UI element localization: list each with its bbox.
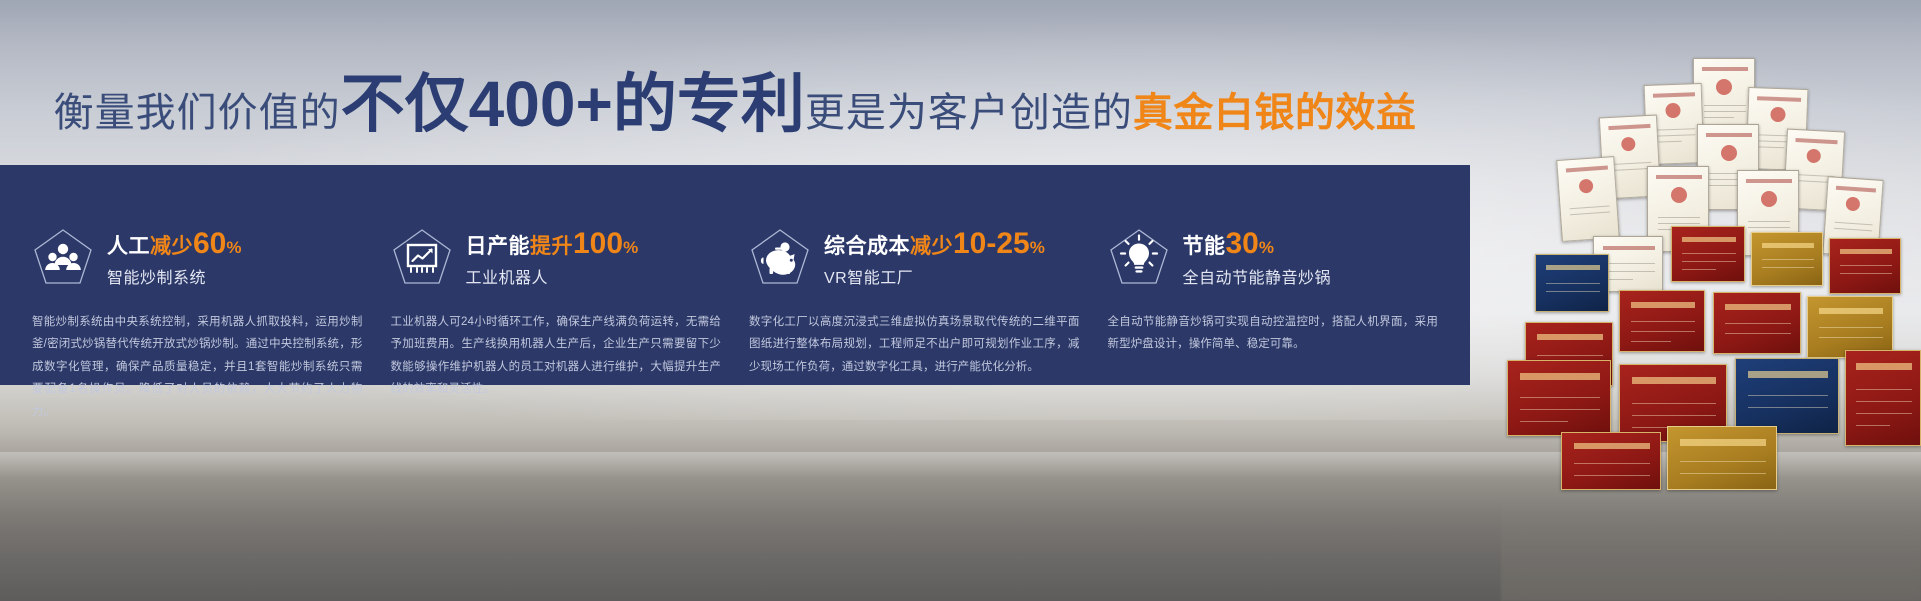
certificate-item [1697,124,1759,210]
award-plaque-item [1807,296,1893,358]
award-plaque-item [1751,232,1823,286]
award-plaque-item [1735,358,1839,434]
feature-description: 工业机器人可24小时循环工作，确保生产线满负荷运转，无需给予加班费用。生产线换用… [391,311,722,401]
feature-title-value: 60 [193,227,226,260]
headline-lead: 衡量我们价值的 [54,91,341,135]
feature-subtitle: 全自动节能静音炒锅 [1183,264,1332,288]
feature-subtitle: 工业机器人 [466,264,639,288]
certificate-item [1822,176,1883,258]
certificate-item [1737,170,1799,256]
award-plaque-item [1713,292,1801,354]
feature-item-total-cost: 综合成本减少10-25% VR智能工厂 数字化工厂以高度沉浸式三维虚拟仿真场景取… [735,165,1094,385]
feature-title-unit: % [1030,238,1045,257]
feature-item-energy-saving: 节能30% 全自动节能静音炒锅 全自动节能静音炒锅可实现自动控温控时，搭配人机界… [1094,165,1453,385]
feature-titles: 人工减少60% 智能炒制系统 [107,228,242,288]
piggy-bank-icon [749,227,811,289]
people-group-icon [32,227,94,289]
feature-header: 节能30% 全自动节能静音炒锅 [1108,227,1439,289]
feature-subtitle: 智能炒制系统 [107,264,242,288]
feature-header: 人工减少60% 智能炒制系统 [32,227,363,289]
patent-achievement-banner: 衡量我们价值的不仅400+的专利更是为客户创造的真金白银的效益 [0,0,1921,601]
feature-title-white: 日产能 [466,235,531,258]
chart-board-icon [391,227,453,289]
sea-background-decoration [0,430,1921,601]
feature-description: 全自动节能静音炒锅可实现自动控温控时，搭配人机界面，采用新型炉盘设计，操作简单、… [1108,311,1439,356]
feature-titles: 节能30% 全自动节能静音炒锅 [1183,228,1332,288]
headline-accent: 真金白银的效益 [1133,91,1417,135]
award-plaque-item [1561,432,1661,490]
award-plaque-item [1619,364,1727,442]
feature-title-verb: 提升 [530,235,573,258]
award-plaque-item [1671,226,1745,282]
award-plaque-item [1667,426,1777,490]
feature-title: 综合成本减少10-25% [824,228,1045,260]
feature-titles: 综合成本减少10-25% VR智能工厂 [824,228,1045,288]
feature-title: 节能30% [1183,228,1332,260]
feature-title-value: 100 [573,227,623,260]
feature-title-white: 综合成本 [824,235,910,258]
certificate-item [1644,83,1705,165]
feature-title-white: 节能 [1183,235,1226,258]
certificate-item [1746,87,1809,171]
award-plaque-item [1535,254,1609,312]
certificate-item [1599,115,1661,200]
award-plaque-item [1525,322,1613,386]
certificate-item [1693,58,1755,142]
award-plaque-item [1845,350,1921,446]
certificate-item [1647,166,1709,252]
award-plaque-item [1829,238,1901,294]
feature-item-daily-capacity: 日产能提升100% 工业机器人 工业机器人可24小时循环工作，确保生产线满负荷运… [377,165,736,385]
certificate-item [1556,156,1620,242]
certificate-item [1783,129,1845,212]
feature-titles: 日产能提升100% 工业机器人 [466,228,639,288]
headline-middle: 更是为客户创造的 [805,91,1133,135]
certificate-stack-reflection [1501,491,1921,601]
feature-subtitle: VR智能工厂 [824,264,1045,288]
feature-title-unit: % [623,238,638,257]
feature-description: 智能炒制系统由中央系统控制，采用机器人抓取投料，运用炒制釜/密闭式炒锅替代传统开… [32,311,363,423]
lightbulb-icon [1108,227,1170,289]
feature-item-labor-reduction: 人工减少60% 智能炒制系统 智能炒制系统由中央系统控制，采用机器人抓取投料，运… [18,165,377,385]
feature-title: 日产能提升100% [466,228,639,260]
feature-title-white: 人工 [107,235,150,258]
feature-description: 数字化工厂以高度沉浸式三维虚拟仿真场景取代传统的二维平面图纸进行整体布局规划，工… [749,311,1080,378]
feature-title-unit: % [1259,238,1274,257]
feature-header: 日产能提升100% 工业机器人 [391,227,722,289]
feature-title-unit: % [226,238,241,257]
feature-title-verb: 减少 [150,235,193,258]
award-plaque-item [1507,360,1611,436]
feature-title-value: 30 [1226,227,1259,260]
horizon-streak-decoration [0,452,1921,478]
feature-list: 人工减少60% 智能炒制系统 智能炒制系统由中央系统控制，采用机器人抓取投料，运… [0,165,1470,385]
award-plaque-item [1619,290,1705,352]
feature-title-value: 10-25 [953,227,1030,260]
certificate-item [1593,236,1663,292]
feature-header: 综合成本减少10-25% VR智能工厂 [749,227,1080,289]
page-title: 衡量我们价值的不仅400+的专利更是为客户创造的真金白银的效益 [0,72,1470,136]
feature-title: 人工减少60% [107,228,242,260]
feature-title-verb: 减少 [910,235,953,258]
headline-strong: 不仅400+的专利 [341,68,805,140]
certificate-award-stack [1501,40,1921,520]
